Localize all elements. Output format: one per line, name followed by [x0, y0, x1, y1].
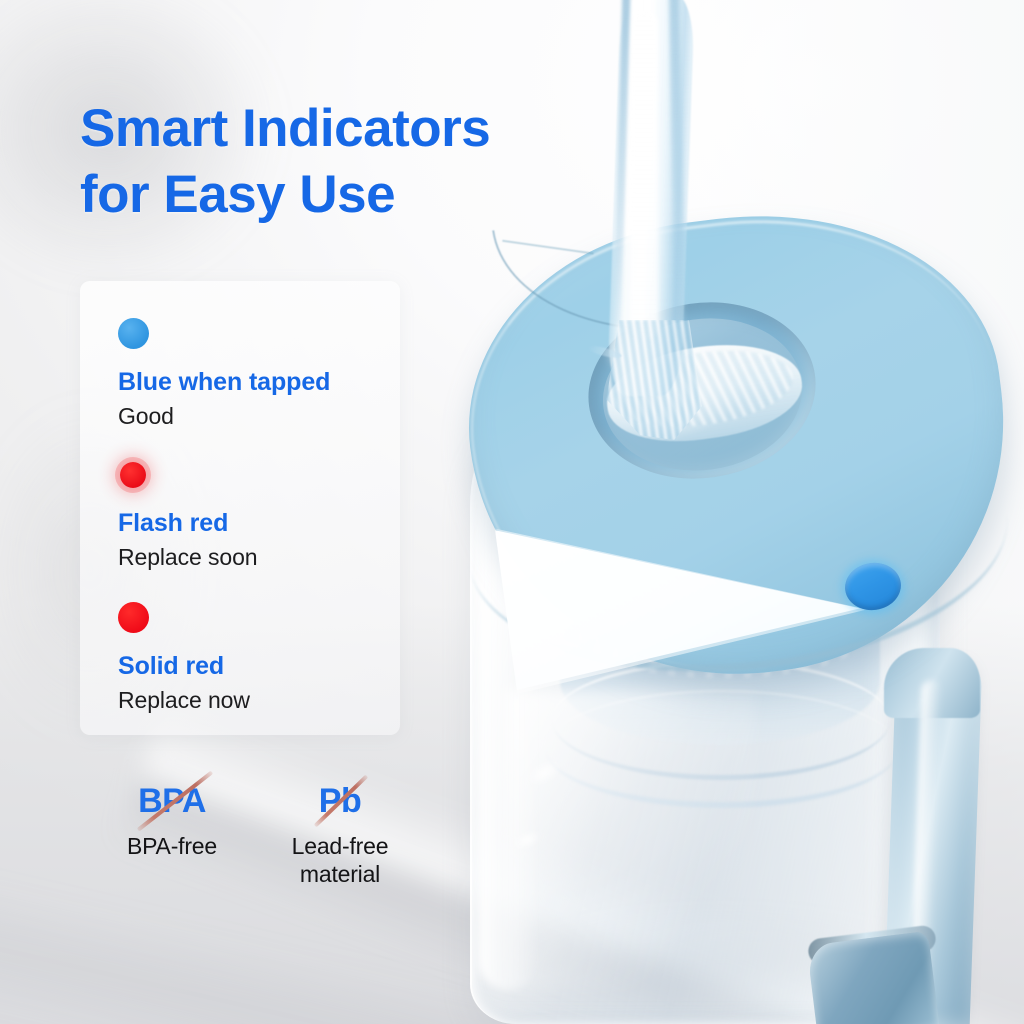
indicator-sublabel: Good: [118, 403, 398, 430]
pb-crossed-out-icon: Pb: [313, 782, 367, 820]
indicator-heading: Solid red: [118, 652, 398, 681]
indicator-item-blue: Blue when tapped Good: [118, 316, 398, 430]
pitcher-handle-grip: [807, 931, 940, 1024]
page-title: Smart Indicatorsfor Easy Use: [80, 96, 600, 227]
product-infographic: Smart Indicatorsfor Easy Use Blue when t…: [0, 0, 1024, 1024]
indicator-dot-wrap: [118, 457, 398, 495]
water-stream-core-highlight: [630, 10, 658, 340]
indicator-heading: Flash red: [118, 509, 398, 538]
indicator-dot-wrap: [118, 316, 398, 354]
badge-bpa-free: BPA BPA-free: [92, 782, 252, 860]
blue-status-dot-icon: [118, 318, 149, 349]
indicator-sublabel: Replace soon: [118, 544, 398, 571]
indicator-sublabel: Replace now: [118, 687, 398, 714]
indicator-item-solid-red: Solid red Replace now: [118, 600, 398, 714]
bpa-crossed-out-icon: BPA: [132, 782, 212, 820]
solid-red-status-dot-icon: [118, 602, 149, 633]
badge-label: BPA-free: [92, 832, 252, 860]
indicator-heading: Blue when tapped: [118, 368, 398, 397]
indicator-item-flash-red: Flash red Replace soon: [118, 457, 398, 571]
flash-red-status-dot-icon: [120, 462, 146, 488]
badge-lead-free: Pb Lead-freematerial: [260, 782, 420, 888]
badge-label: Lead-freematerial: [260, 832, 420, 888]
indicator-dot-wrap: [118, 600, 398, 638]
